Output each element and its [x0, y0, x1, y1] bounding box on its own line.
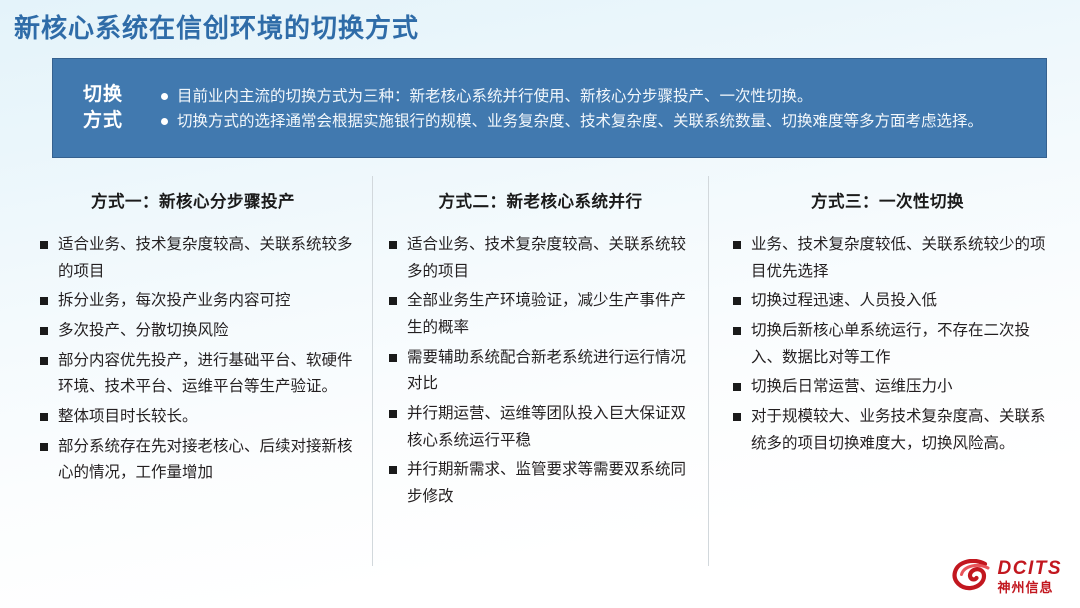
bullet-list: 适合业务、技术复杂度较高、关联系统较多的项目 拆分业务，每次投产业务内容可控 多…: [28, 218, 358, 487]
page-title: 新核心系统在信创环境的切换方式: [14, 8, 419, 45]
bullet-square-icon: [40, 241, 48, 249]
bullet-square-icon: [40, 357, 48, 365]
list-item: 全部业务生产环境验证，减少生产事件产生的概率: [387, 288, 694, 341]
summary-item: 目前业内主流的切换方式为三种：新老核心系统并行使用、新核心分步骤投产、一次性切换…: [161, 85, 1032, 109]
bullet-dot-icon: [161, 118, 168, 125]
bullet-square-icon: [733, 241, 741, 249]
list-item-text: 适合业务、技术复杂度较高、关联系统较多的项目: [407, 232, 694, 285]
list-item-text: 并行期运营、运维等团队投入巨大保证双核心系统运行平稳: [407, 401, 694, 454]
list-item: 切换后新核心单系统运行，不存在二次投入、数据比对等工作: [723, 318, 1052, 371]
list-item-text: 业务、技术复杂度较低、关联系统较少的项目优先选择: [751, 232, 1052, 285]
summary-panel: 切换 方式 目前业内主流的切换方式为三种：新老核心系统并行使用、新核心分步骤投产…: [52, 58, 1047, 158]
list-item-text: 多次投产、分散切换风险: [58, 318, 358, 345]
bullet-square-icon: [389, 354, 397, 362]
bullet-square-icon: [389, 297, 397, 305]
column-heading: 方式二：新老核心系统并行: [387, 176, 694, 218]
bullet-square-icon: [389, 410, 397, 418]
list-item-text: 切换过程迅速、人员投入低: [751, 288, 1052, 315]
column-heading: 方式三：一次性切换: [723, 176, 1052, 218]
list-item-text: 切换后日常运营、运维压力小: [751, 374, 1052, 401]
bullet-square-icon: [389, 241, 397, 249]
bullet-square-icon: [40, 443, 48, 451]
logo-text: DCITS 神州信息: [998, 559, 1063, 594]
list-item: 并行期运营、运维等团队投入巨大保证双核心系统运行平稳: [387, 401, 694, 454]
list-item-text: 切换后新核心单系统运行，不存在二次投入、数据比对等工作: [751, 318, 1052, 371]
list-item-text: 适合业务、技术复杂度较高、关联系统较多的项目: [58, 232, 358, 285]
list-item-text: 部分系统存在先对接老核心、后续对接新核心的情况，工作量增加: [58, 434, 358, 487]
list-item-text: 部分内容优先投产，进行基础平台、软硬件环境、技术平台、运维平台等生产验证。: [58, 348, 358, 401]
logo-name-cn: 神州信息: [998, 581, 1063, 594]
column-heading: 方式一：新核心分步骤投产: [28, 176, 358, 218]
summary-label: 切换 方式: [53, 59, 153, 157]
summary-label-line1: 切换: [83, 82, 123, 108]
list-item: 部分系统存在先对接老核心、后续对接新核心的情况，工作量增加: [28, 434, 358, 487]
columns-container: 方式一：新核心分步骤投产 适合业务、技术复杂度较高、关联系统较多的项目 拆分业务…: [14, 176, 1066, 566]
list-item: 对于规模较大、业务技术复杂度高、关联系统多的项目切换难度大，切换风险高。: [723, 404, 1052, 457]
bullet-dot-icon: [161, 93, 168, 100]
column-method-one: 方式一：新核心分步骤投产 适合业务、技术复杂度较高、关联系统较多的项目 拆分业务…: [14, 176, 372, 566]
list-item: 多次投产、分散切换风险: [28, 318, 358, 345]
list-item: 适合业务、技术复杂度较高、关联系统较多的项目: [28, 232, 358, 285]
bullet-list: 业务、技术复杂度较低、关联系统较少的项目优先选择 切换过程迅速、人员投入低 切换…: [723, 218, 1052, 457]
bullet-square-icon: [733, 297, 741, 305]
list-item: 并行期新需求、监管要求等需要双系统同步修改: [387, 457, 694, 510]
bullet-list: 适合业务、技术复杂度较高、关联系统较多的项目 全部业务生产环境验证，减少生产事件…: [387, 218, 694, 511]
summary-item-text: 目前业内主流的切换方式为三种：新老核心系统并行使用、新核心分步骤投产、一次性切换…: [177, 85, 1032, 109]
list-item: 部分内容优先投产，进行基础平台、软硬件环境、技术平台、运维平台等生产验证。: [28, 348, 358, 401]
bullet-square-icon: [40, 413, 48, 421]
list-item-text: 拆分业务，每次投产业务内容可控: [58, 288, 358, 315]
bullet-square-icon: [389, 466, 397, 474]
list-item-text: 并行期新需求、监管要求等需要双系统同步修改: [407, 457, 694, 510]
bullet-square-icon: [733, 413, 741, 421]
list-item-text: 整体项目时长较长。: [58, 404, 358, 431]
list-item-text: 全部业务生产环境验证，减少生产事件产生的概率: [407, 288, 694, 341]
dcits-swirl-icon: [952, 559, 992, 593]
list-item: 切换后日常运营、运维压力小: [723, 374, 1052, 401]
company-logo: DCITS 神州信息: [952, 556, 1063, 596]
list-item: 整体项目时长较长。: [28, 404, 358, 431]
bullet-square-icon: [733, 327, 741, 335]
bullet-square-icon: [40, 297, 48, 305]
slide-root: 新核心系统在信创环境的切换方式 切换 方式 目前业内主流的切换方式为三种：新老核…: [0, 0, 1080, 608]
column-method-three: 方式三：一次性切换 业务、技术复杂度较低、关联系统较少的项目优先选择 切换过程迅…: [708, 176, 1066, 566]
bullet-square-icon: [733, 383, 741, 391]
column-method-two: 方式二：新老核心系统并行 适合业务、技术复杂度较高、关联系统较多的项目 全部业务…: [372, 176, 708, 566]
bullet-square-icon: [40, 327, 48, 335]
list-item: 需要辅助系统配合新老系统进行运行情况对比: [387, 345, 694, 398]
list-item: 业务、技术复杂度较低、关联系统较少的项目优先选择: [723, 232, 1052, 285]
summary-item-text: 切换方式的选择通常会根据实施银行的规模、业务复杂度、技术复杂度、关联系统数量、切…: [177, 110, 1032, 134]
list-item-text: 对于规模较大、业务技术复杂度高、关联系统多的项目切换难度大，切换风险高。: [751, 404, 1052, 457]
logo-name-en: DCITS: [998, 559, 1063, 578]
summary-body: 目前业内主流的切换方式为三种：新老核心系统并行使用、新核心分步骤投产、一次性切换…: [153, 59, 1046, 157]
summary-item: 切换方式的选择通常会根据实施银行的规模、业务复杂度、技术复杂度、关联系统数量、切…: [161, 110, 1032, 134]
summary-label-line2: 方式: [83, 108, 123, 134]
list-item: 切换过程迅速、人员投入低: [723, 288, 1052, 315]
list-item: 拆分业务，每次投产业务内容可控: [28, 288, 358, 315]
list-item-text: 需要辅助系统配合新老系统进行运行情况对比: [407, 345, 694, 398]
list-item: 适合业务、技术复杂度较高、关联系统较多的项目: [387, 232, 694, 285]
